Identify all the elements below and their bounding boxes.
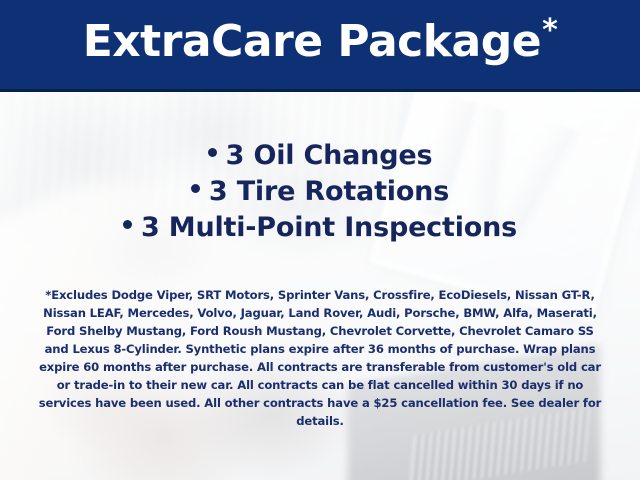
benefit-label: 3 Multi-Point Inspections <box>141 212 517 243</box>
list-item: 3 Oil Changes <box>0 138 640 174</box>
page-title-text: ExtraCare Package <box>83 16 541 67</box>
page-title-asterisk: * <box>542 13 557 48</box>
header-banner: ExtraCare Package* <box>0 0 640 92</box>
page-title: ExtraCare Package* <box>0 14 640 66</box>
disclaimer-text: *Excludes Dodge Viper, SRT Motors, Sprin… <box>34 286 606 430</box>
benefit-label: 3 Oil Changes <box>226 140 433 171</box>
extracare-package-ad: ExtraCare Package* 3 Oil Changes 3 Tire … <box>0 0 640 480</box>
bullet-dot-icon <box>191 184 200 193</box>
bullet-dot-icon <box>123 220 132 229</box>
bullet-dot-icon <box>208 148 217 157</box>
list-item: 3 Multi-Point Inspections <box>0 210 640 246</box>
list-item: 3 Tire Rotations <box>0 174 640 210</box>
benefits-list: 3 Oil Changes 3 Tire Rotations 3 Multi-P… <box>0 138 640 246</box>
benefit-label: 3 Tire Rotations <box>209 176 449 207</box>
